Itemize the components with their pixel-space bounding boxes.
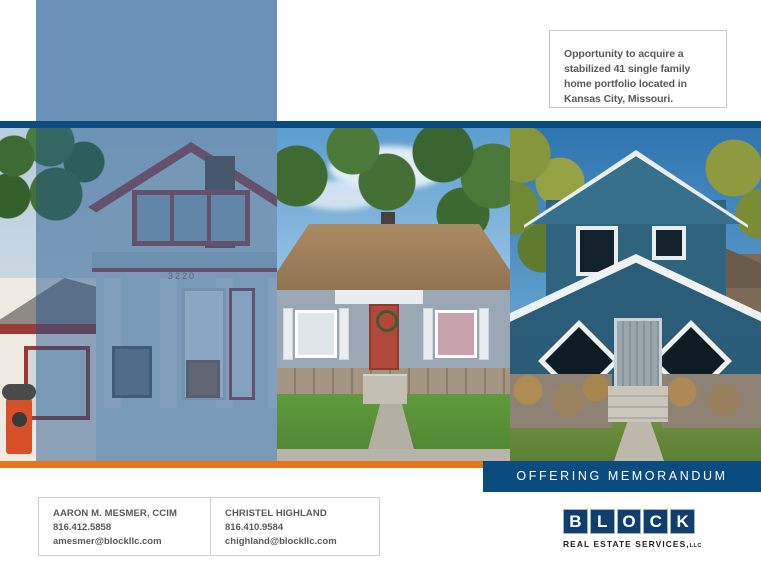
- contact-name: CHRISTEL HIGHLAND: [225, 507, 379, 521]
- fire-hydrant-cap: [2, 384, 36, 400]
- contact-name: AARON M. MESMER, CCIM: [53, 507, 210, 521]
- contact-card-primary: AARON M. MESMER, CCIM 816.412.5858 amesm…: [39, 498, 210, 555]
- stone-foundation: [662, 374, 761, 428]
- logo-tagline-llc: LLC: [690, 543, 702, 549]
- orange-accent-bar: [0, 461, 483, 468]
- header-accent-block: [36, 0, 277, 121]
- window-shutter: [339, 308, 349, 360]
- logo-tagline: REAL ESTATE SERVICES,LLC: [563, 539, 695, 549]
- logo-letter-b: B: [563, 509, 588, 534]
- offering-memorandum-banner: OFFERING MEMORANDUM: [483, 461, 761, 492]
- door-wreath: [376, 310, 398, 332]
- roof: [277, 224, 510, 296]
- opportunity-callout-text: Opportunity to acquire a stabilized 41 s…: [564, 47, 716, 107]
- logo-letter-tiles: B L O C K: [563, 509, 695, 534]
- front-steps: [363, 374, 407, 404]
- logo-tagline-main: REAL ESTATE SERVICES,: [563, 539, 690, 549]
- stone-foundation: [510, 374, 612, 428]
- photo-blue-craftsman-diamond-windows: [510, 128, 761, 461]
- block-real-estate-services-logo[interactable]: B L O C K REAL ESTATE SERVICES,LLC: [563, 509, 695, 549]
- door-awning: [335, 290, 423, 304]
- window: [435, 310, 477, 358]
- fire-hydrant-valve: [12, 412, 27, 427]
- logo-letter-o: O: [617, 509, 642, 534]
- sidewalk: [277, 449, 510, 461]
- window-shutter: [423, 308, 433, 360]
- photo-craftsman-bungalow-blue-overlay: 3220: [0, 128, 277, 461]
- contact-email[interactable]: chighland@blockllc.com: [225, 535, 379, 549]
- opportunity-callout-box: Opportunity to acquire a stabilized 41 s…: [549, 30, 727, 108]
- front-steps: [608, 386, 668, 422]
- hero-photo-band: 3220: [0, 128, 761, 461]
- logo-letter-l: L: [590, 509, 615, 534]
- contact-phone[interactable]: 816.412.5858: [53, 521, 210, 535]
- contact-phone[interactable]: 816.410.9584: [225, 521, 379, 535]
- upper-window: [652, 226, 686, 260]
- offering-memorandum-cover-page: Opportunity to acquire a stabilized 41 s…: [0, 0, 761, 588]
- navy-divider-strip: [0, 121, 761, 128]
- offering-memorandum-label: OFFERING MEMORANDUM: [483, 461, 761, 492]
- contact-card-secondary: CHRISTEL HIGHLAND 816.410.9584 chighland…: [210, 498, 379, 555]
- window: [295, 310, 337, 358]
- contact-email[interactable]: amesmer@blockllc.com: [53, 535, 210, 549]
- window-shutter: [283, 308, 293, 360]
- blue-tint-overlay: [36, 128, 277, 461]
- photo-gray-cape-cod-house: [277, 128, 510, 461]
- window-shutter: [479, 308, 489, 360]
- logo-letter-k: K: [670, 509, 695, 534]
- contact-info-box: AARON M. MESMER, CCIM 816.412.5858 amesm…: [38, 497, 380, 556]
- logo-letter-c: C: [643, 509, 668, 534]
